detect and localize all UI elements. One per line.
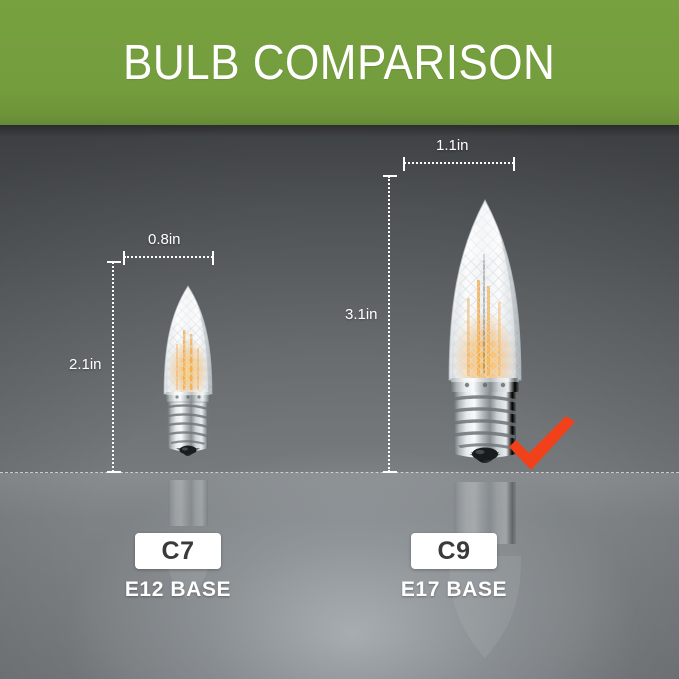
bulb-name-c7: C7 bbox=[162, 537, 195, 566]
bulb-base-label-c9: E17 BASE bbox=[384, 578, 524, 602]
dimension-label-c9-width: 1.1in bbox=[436, 137, 469, 154]
dimension-line-c9-width bbox=[404, 162, 514, 164]
bulb-name-chip-c7: C7 bbox=[135, 533, 221, 569]
scene-background bbox=[0, 125, 679, 679]
bulb-comparison-infographic: BULB COMPARISON bbox=[0, 0, 679, 679]
bulb-name-chip-c9: C9 bbox=[411, 533, 497, 569]
bulb-name-c9: C9 bbox=[438, 537, 471, 566]
dimension-label-c7-height: 2.1in bbox=[69, 356, 102, 373]
dimension-label-c7-width: 0.8in bbox=[148, 231, 181, 248]
check-icon bbox=[506, 414, 578, 476]
dimension-line-c9-height bbox=[388, 176, 390, 472]
header-banner: BULB COMPARISON bbox=[0, 0, 679, 125]
dimension-label-c9-height: 3.1in bbox=[345, 306, 378, 323]
bulb-base-label-c7: E12 BASE bbox=[108, 578, 248, 602]
page-title: BULB COMPARISON bbox=[123, 35, 555, 91]
bulb-c7 bbox=[128, 252, 248, 477]
dimension-line-c7-height bbox=[112, 262, 114, 472]
dimension-line-c7-width bbox=[124, 256, 213, 258]
